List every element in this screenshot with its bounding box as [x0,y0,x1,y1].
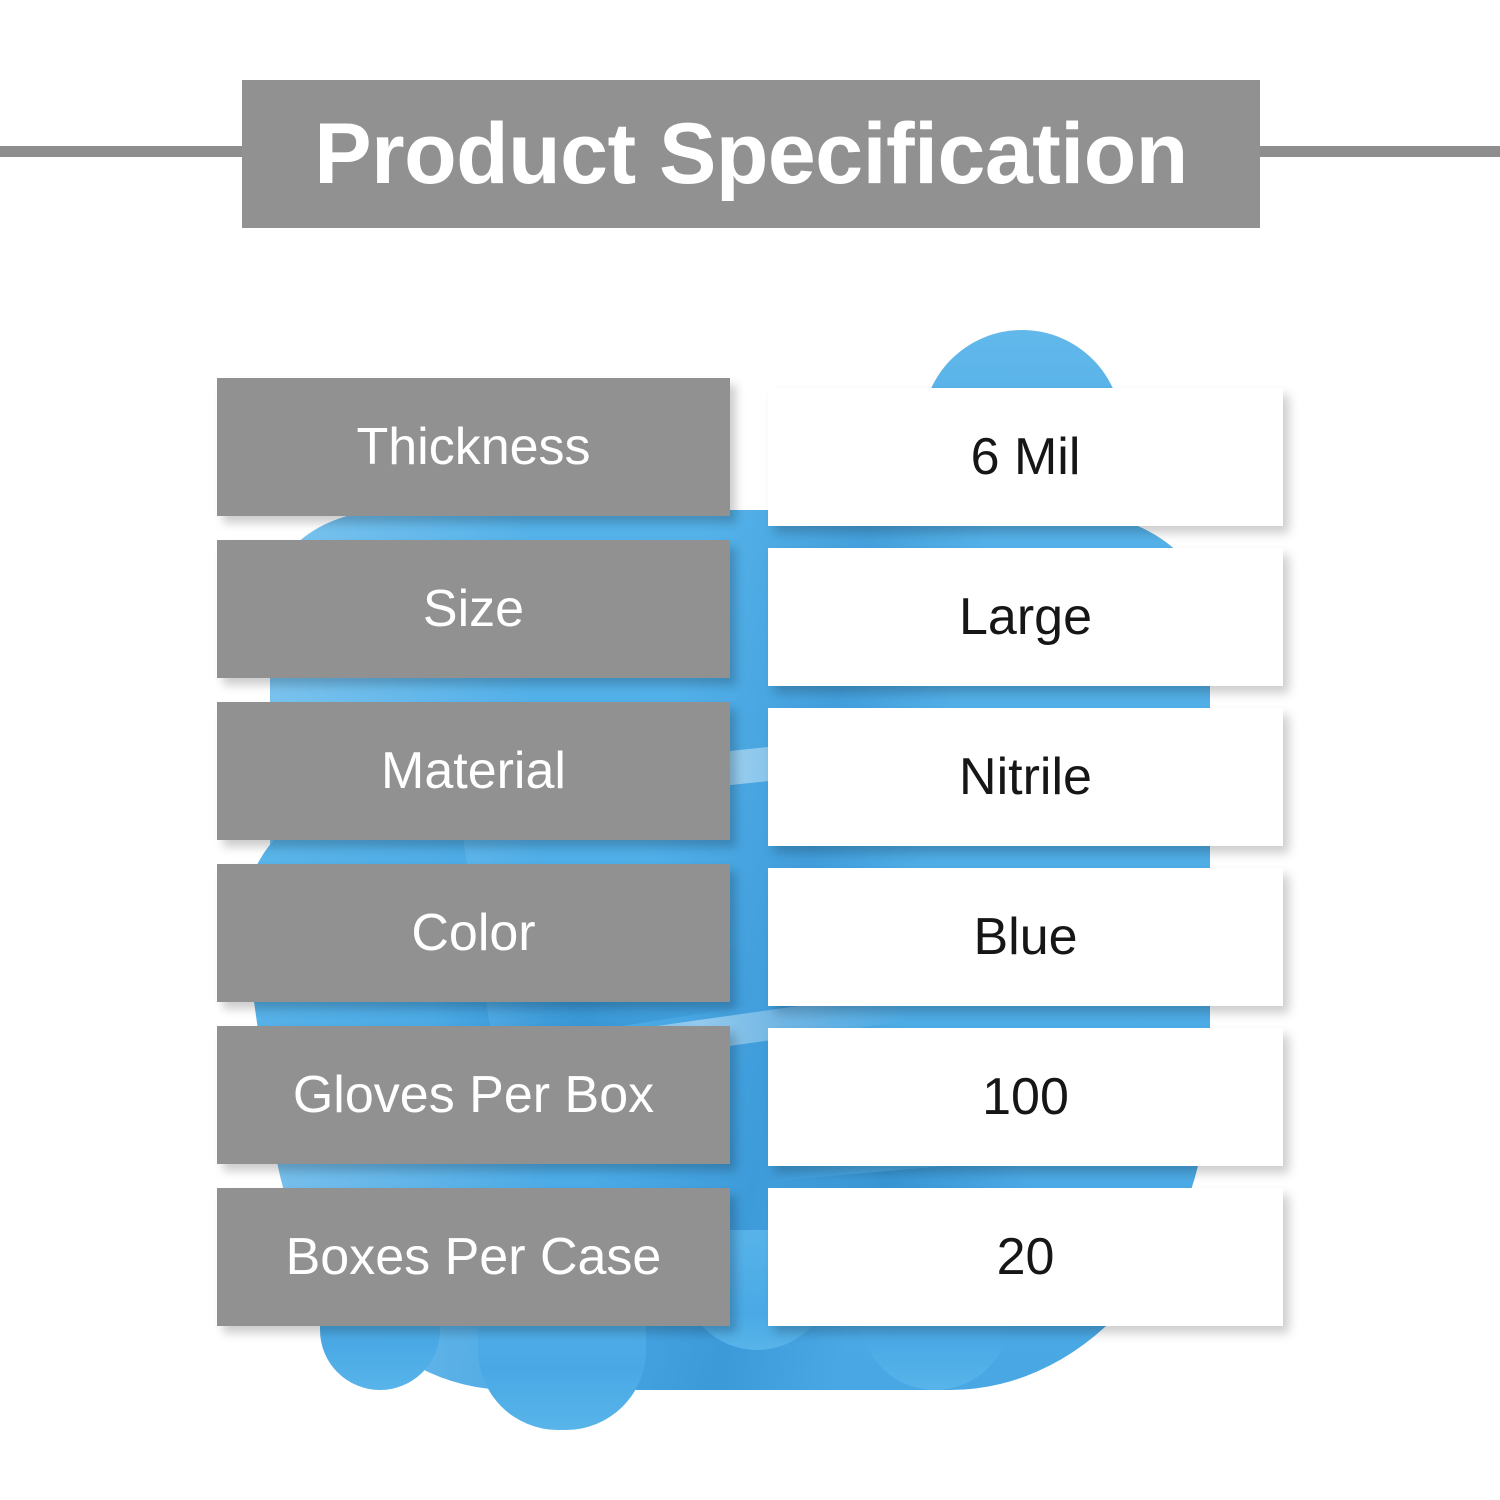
spec-label: Gloves Per Box [293,1069,654,1121]
spec-table: Thickness 6 Mil Size Large Material Nitr… [0,0,1500,1500]
spec-label-cell: Material [217,702,730,840]
spec-value-cell: 20 [768,1188,1283,1326]
spec-label: Color [411,907,535,959]
spec-label-cell: Size [217,540,730,678]
spec-label: Thickness [356,421,590,473]
spec-value: Nitrile [959,751,1092,803]
spec-value: Large [959,591,1092,643]
spec-value: 20 [997,1231,1055,1283]
spec-value-cell: Blue [768,868,1283,1006]
spec-label: Boxes Per Case [286,1231,662,1283]
spec-value-cell: 6 Mil [768,388,1283,526]
spec-value-cell: Large [768,548,1283,686]
spec-label-cell: Gloves Per Box [217,1026,730,1164]
spec-label: Material [381,745,566,797]
spec-label-cell: Thickness [217,378,730,516]
spec-label-cell: Color [217,864,730,1002]
spec-value-cell: Nitrile [768,708,1283,846]
infographic-canvas: Product Specification Thickness 6 Mil [0,0,1500,1500]
spec-label-cell: Boxes Per Case [217,1188,730,1326]
spec-value: 100 [982,1071,1069,1123]
spec-value: Blue [973,911,1077,963]
spec-value-cell: 100 [768,1028,1283,1166]
spec-label: Size [423,583,524,635]
spec-value: 6 Mil [971,431,1081,483]
